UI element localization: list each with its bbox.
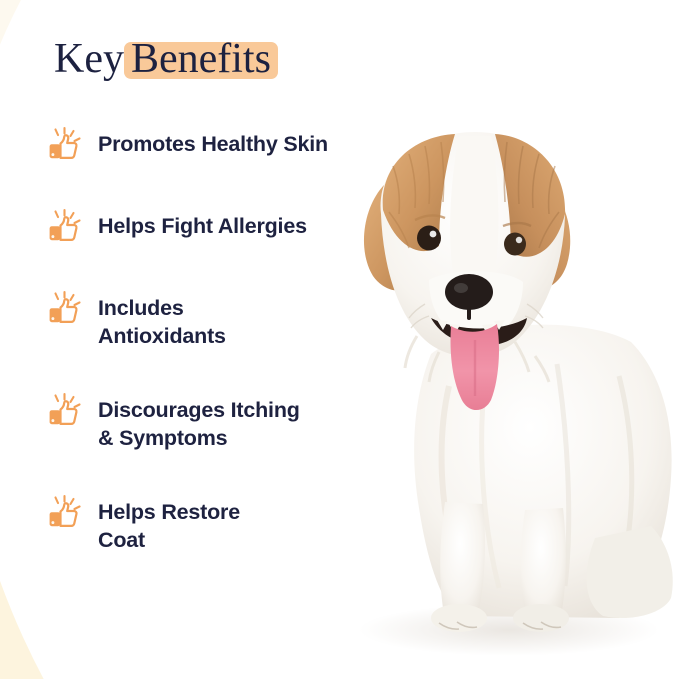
thumbs-up-icon <box>44 208 84 248</box>
benefit-line: Discourages Itching <box>98 396 300 424</box>
benefit-line: & Symptoms <box>98 424 300 452</box>
benefits-list: Promotes Healthy Skin Helps Fight Allerg… <box>44 126 384 554</box>
benefit-label: Helps Fight Allergies <box>98 208 307 240</box>
title-word-benefits-highlighted: Benefits <box>124 36 278 83</box>
thumbs-up-icon <box>44 290 84 330</box>
benefit-line: Coat <box>98 526 240 554</box>
key-benefits-infographic: KeyBenefits Promotes Healthy Skin <box>0 0 679 679</box>
benefit-line: Includes <box>98 294 226 322</box>
list-item: Helps Restore Coat <box>44 494 384 554</box>
list-item: Discourages Itching & Symptoms <box>44 392 384 452</box>
thumbs-up-icon <box>44 494 84 534</box>
list-item: Includes Antioxidants <box>44 290 384 350</box>
benefit-line: Helps Restore <box>98 498 240 526</box>
title-word-key: Key <box>54 36 124 82</box>
benefit-label: Includes Antioxidants <box>98 290 226 350</box>
benefit-line: Promotes Healthy Skin <box>98 130 328 158</box>
list-item: Promotes Healthy Skin <box>44 126 384 166</box>
benefit-line: Helps Fight Allergies <box>98 212 307 240</box>
benefit-label: Promotes Healthy Skin <box>98 126 328 158</box>
list-item: Helps Fight Allergies <box>44 208 384 248</box>
thumbs-up-icon <box>44 392 84 432</box>
page-title: KeyBenefits <box>54 36 278 83</box>
benefit-line: Antioxidants <box>98 322 226 350</box>
benefit-label: Discourages Itching & Symptoms <box>98 392 300 452</box>
benefit-label: Helps Restore Coat <box>98 494 240 554</box>
thumbs-up-icon <box>44 126 84 166</box>
